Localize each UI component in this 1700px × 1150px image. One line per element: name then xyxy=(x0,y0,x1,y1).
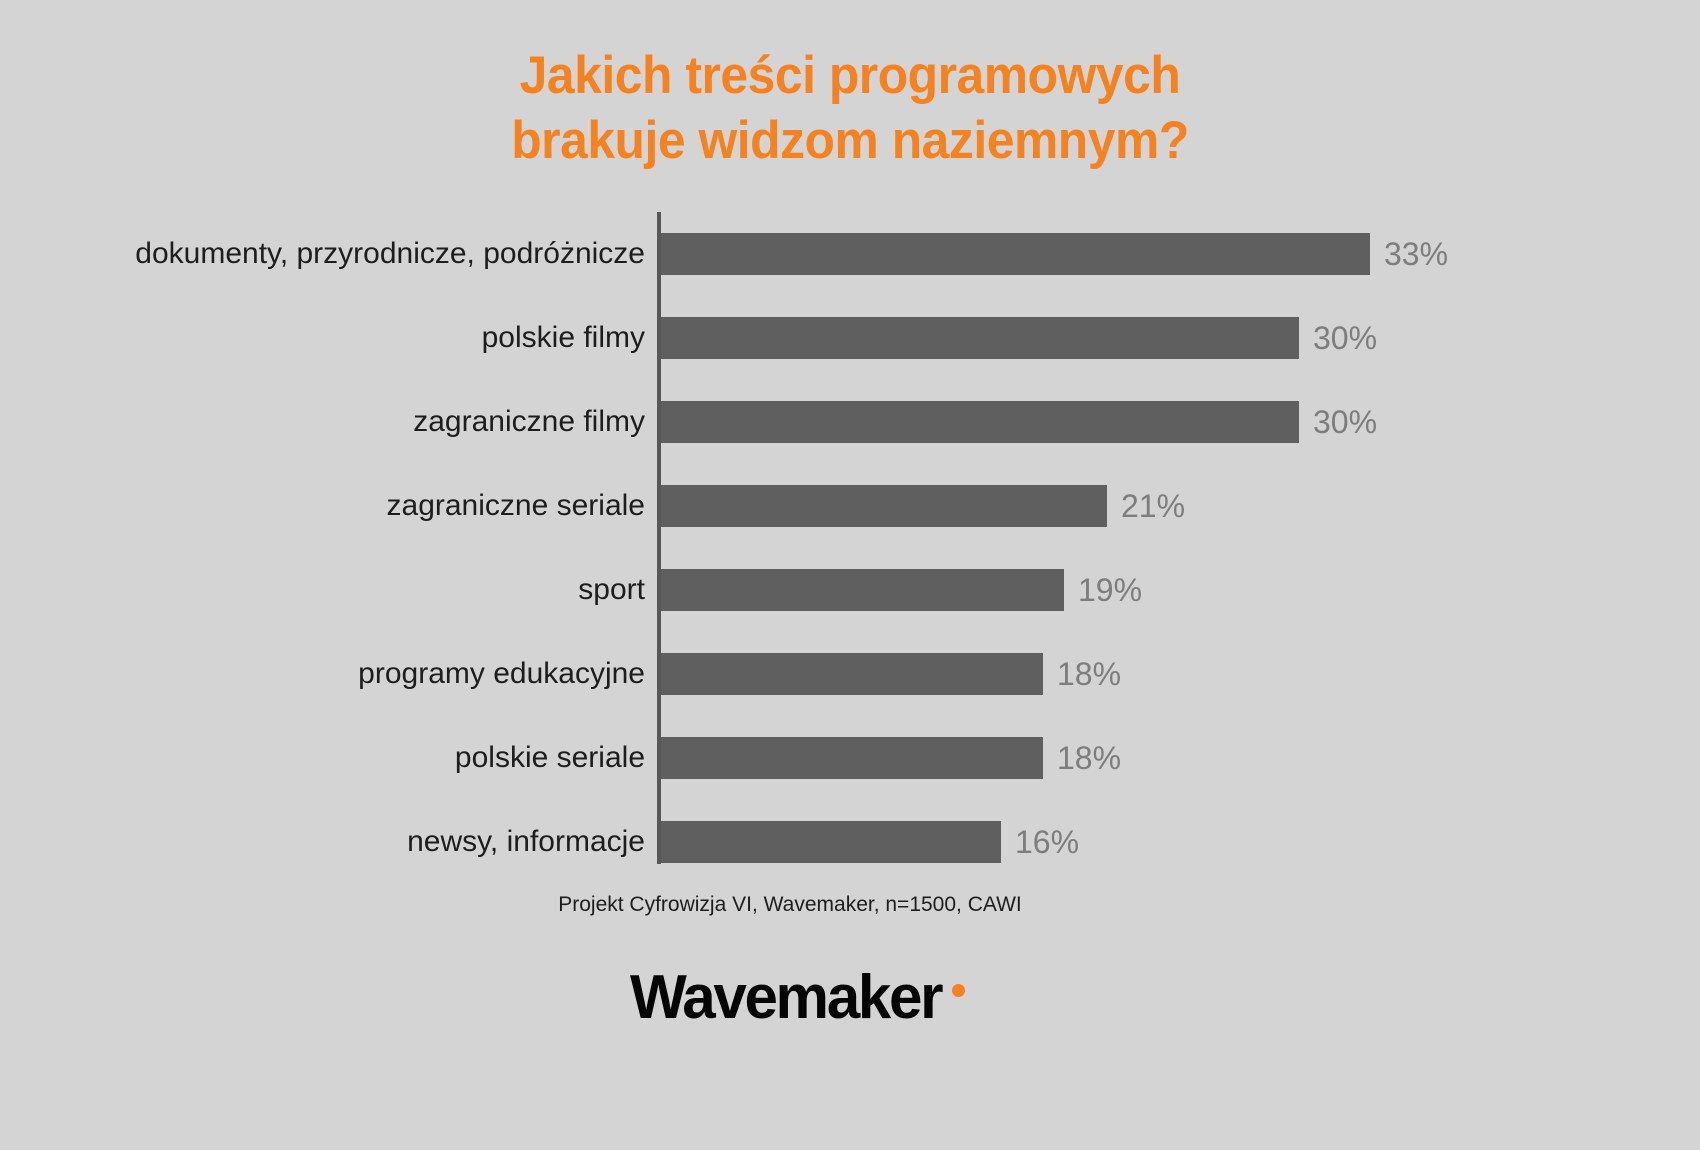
bar xyxy=(661,317,1299,359)
bar-value-label: 30% xyxy=(1313,322,1377,354)
table-row: newsy, informacje 16% xyxy=(0,800,1700,884)
bar-group: 33% xyxy=(661,212,1448,296)
page-title: Jakich treści programowych brakuje widzo… xyxy=(51,44,1649,173)
bar-value-label: 18% xyxy=(1057,742,1121,774)
bar-group: 18% xyxy=(661,632,1121,716)
bar-value-label: 19% xyxy=(1078,574,1142,606)
table-row: dokumenty, przyrodnicze, podróżnicze 33% xyxy=(0,212,1700,296)
wavemaker-logo-inner: Wavemaker xyxy=(630,962,951,1033)
bar-category-label: programy edukacyjne xyxy=(358,632,645,716)
bar-category-label: sport xyxy=(578,548,645,632)
table-row: programy edukacyjne 18% xyxy=(0,632,1700,716)
wavemaker-logo-dot-icon xyxy=(952,984,965,997)
bar xyxy=(661,485,1107,527)
table-row: sport 19% xyxy=(0,548,1700,632)
table-row: polskie seriale 18% xyxy=(0,716,1700,800)
bar-category-label: zagraniczne filmy xyxy=(413,380,645,464)
bar xyxy=(661,233,1370,275)
bar-category-label: dokumenty, przyrodnicze, podróżnicze xyxy=(135,212,645,296)
bar-group: 16% xyxy=(661,800,1079,884)
bar-group: 21% xyxy=(661,464,1185,548)
table-row: polskie filmy 30% xyxy=(0,296,1700,380)
bar-value-label: 16% xyxy=(1015,826,1079,858)
wavemaker-logo: Wavemaker xyxy=(0,962,1700,1033)
bar-value-label: 18% xyxy=(1057,658,1121,690)
table-row: zagraniczne seriale 21% xyxy=(0,464,1700,548)
bar-category-label: polskie seriale xyxy=(455,716,645,800)
bar xyxy=(661,821,1001,863)
bar xyxy=(661,569,1064,611)
table-row: zagraniczne filmy 30% xyxy=(0,380,1700,464)
chart-source-note: Projekt Cyfrowizja VI, Wavemaker, n=1500… xyxy=(0,893,1700,917)
bar xyxy=(661,653,1043,695)
bar-group: 19% xyxy=(661,548,1142,632)
bar-group: 18% xyxy=(661,716,1121,800)
bar-value-label: 21% xyxy=(1121,490,1185,522)
bar-group: 30% xyxy=(661,296,1377,380)
wavemaker-logo-text: Wavemaker xyxy=(630,962,941,1033)
bar-category-label: newsy, informacje xyxy=(407,800,645,884)
chart-plot-area: dokumenty, przyrodnicze, podróżnicze 33%… xyxy=(0,212,1700,872)
bar xyxy=(661,401,1299,443)
bar-value-label: 33% xyxy=(1384,238,1448,270)
chart-source-note-text: Projekt Cyfrowizja VI, Wavemaker, n=1500… xyxy=(558,893,1022,917)
bar-group: 30% xyxy=(661,380,1377,464)
bar-category-label: polskie filmy xyxy=(482,296,645,380)
bar xyxy=(661,737,1043,779)
bar-value-label: 30% xyxy=(1313,406,1377,438)
infographic-canvas: Jakich treści programowych brakuje widzo… xyxy=(0,0,1700,1150)
bar-category-label: zagraniczne seriale xyxy=(387,464,645,548)
